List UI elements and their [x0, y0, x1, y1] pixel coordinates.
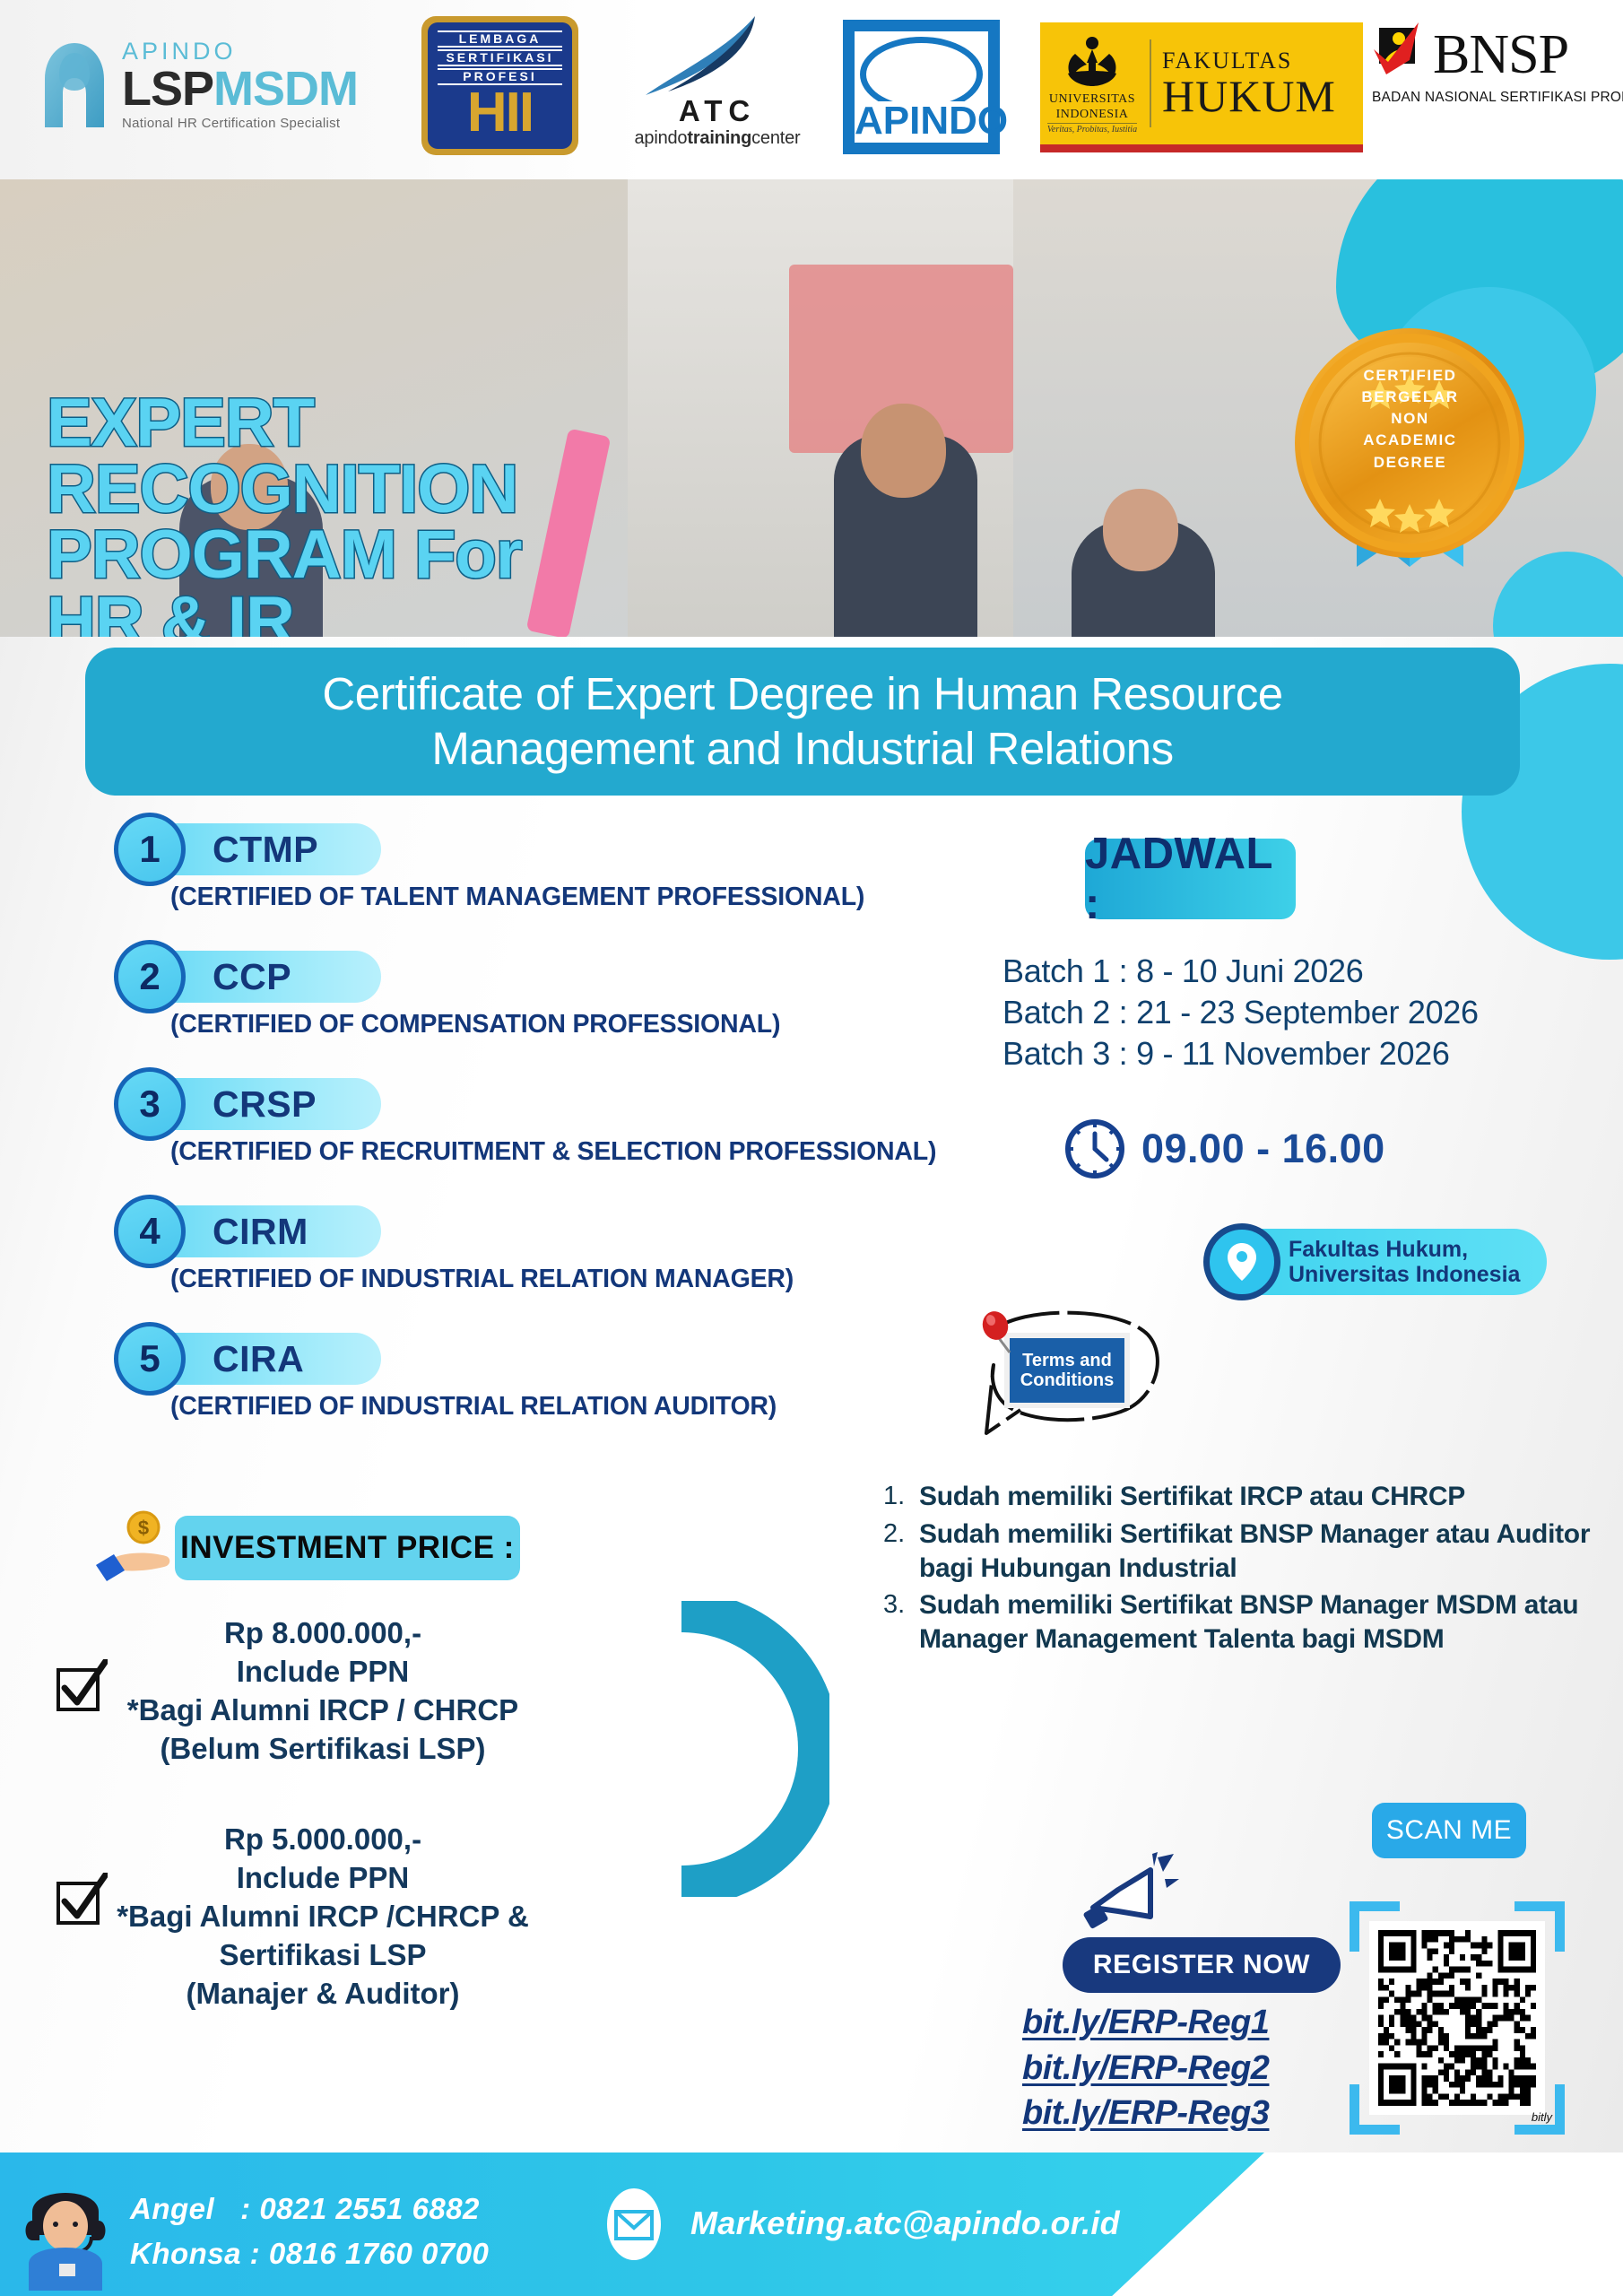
certification-item: CIRA 5 (CERTIFIED OF INDUSTRIAL RELATION…: [76, 1333, 1000, 1448]
footer-contact-1: Angel : 0821 2551 6882: [130, 2187, 489, 2231]
certification-number-badge: 3: [114, 1067, 186, 1141]
registration-link-1[interactable]: bit.ly/ERP-Reg1: [1022, 2000, 1269, 2046]
location-pin-icon: [1203, 1223, 1280, 1300]
certification-full-name: (CERTIFIED OF INDUSTRIAL RELATION MANAGE…: [170, 1265, 794, 1294]
ui-divider: [1150, 39, 1151, 127]
schedule-batch-3: Batch 3 : 9 - 11 November 2026: [1002, 1033, 1479, 1074]
certification-abbr: CTMP: [213, 829, 318, 871]
ui-univ-line2: INDONESIA: [1056, 109, 1129, 122]
terms-badge-line-2: Conditions: [1020, 1370, 1114, 1390]
certification-abbr: CRSP: [213, 1083, 317, 1126]
checkbox-checked-icon: [54, 1659, 108, 1715]
hero-title-line-2: RECOGNITION: [47, 457, 521, 523]
terms-badge-line-1: Terms and: [1022, 1351, 1112, 1370]
logo-lsp-msdm: APINDO LSPMSDM National HR Certification…: [36, 27, 386, 143]
schedule-heading-badge: JADWAL :: [1085, 839, 1296, 919]
subtitle-line-2: Management and Industrial Relations: [431, 722, 1173, 776]
ui-makara-icon: [1057, 32, 1127, 91]
hii-initials: HII: [438, 85, 562, 141]
clock-icon: [1063, 1117, 1127, 1181]
ui-motto: Veritas, Probitas, Iustitia: [1047, 123, 1137, 135]
schedule-batch-1: Batch 1 : 8 - 10 Juni 2026: [1002, 951, 1479, 992]
investment-note-1a: *Bagi Alumni IRCP / CHRCP: [36, 1692, 610, 1730]
msdm-label: MSDM: [213, 62, 358, 116]
hii-line-2: SERTIFIKASI: [438, 49, 562, 66]
schedule-batch-2: Batch 2 : 21 - 23 September 2026: [1002, 992, 1479, 1033]
hero-title-line-4: HR & IR: [47, 588, 521, 637]
terms-list-item: 2. Sudah memiliki Sertifikat BNSP Manage…: [883, 1518, 1619, 1586]
terms-item-text: Sudah memiliki Sertifikat IRCP atau CHRC…: [919, 1480, 1465, 1514]
terms-list-item: 3. Sudah memiliki Sertifikat BNSP Manage…: [883, 1588, 1619, 1657]
seal-line-3: NON: [1287, 408, 1533, 430]
qr-code-frame[interactable]: bitly: [1350, 1901, 1565, 2135]
atc-subtitle: apindotrainingcenter: [619, 128, 816, 149]
seal-line-5: DEGREE: [1287, 452, 1533, 474]
megaphone-icon: [1081, 1852, 1179, 1951]
terms-item-text: Sudah memiliki Sertifikat BNSP Manager a…: [919, 1518, 1619, 1586]
ui-hukum-label: HUKUM: [1162, 74, 1336, 118]
footer-email[interactable]: Marketing.atc@apindo.or.id: [690, 2205, 1120, 2242]
bnsp-subtitle: BADAN NASIONAL SERTIFIKASI PROFESI: [1372, 90, 1614, 106]
certification-abbr: CIRM: [213, 1211, 308, 1253]
terms-item-index: 1.: [883, 1480, 919, 1513]
pushpin-icon: [977, 1309, 1017, 1354]
terms-list-item: 1. Sudah memiliki Sertifikat IRCP atau C…: [883, 1480, 1619, 1514]
email-icon: [596, 2187, 672, 2262]
investment-option-2: Rp 5.000.000,- Include PPN *Bagi Alumni …: [36, 1821, 610, 2013]
certification-abbr: CCP: [213, 956, 291, 998]
certified-seal-badge: CERTIFIED BERGELAR NON ACADEMIC DEGREE: [1287, 323, 1533, 570]
investment-price-heading: INVESTMENT PRICE :: [175, 1516, 520, 1580]
lsp-msdm-mark-icon: [36, 40, 113, 130]
logo-lsp-hii: LEMBAGA SERTIFIKASI PROFESI HII: [421, 16, 578, 155]
certification-item: CCP 2 (CERTIFIED OF COMPENSATION PROFESS…: [76, 951, 1000, 1065]
investment-option-1: Rp 8.000.000,- Include PPN *Bagi Alumni …: [36, 1614, 610, 1769]
atc-sub-b: training: [687, 128, 751, 148]
schedule-time: 09.00 - 16.00: [1141, 1126, 1385, 1172]
seal-line-1: CERTIFIED: [1287, 365, 1533, 387]
lsp-apindo-label: APINDO: [122, 39, 358, 64]
certification-item: CTMP 1 (CERTIFIED OF TALENT MANAGEMENT P…: [76, 823, 1000, 938]
money-hand-icon: $: [94, 1509, 179, 1588]
investment-ppn-1: Include PPN: [36, 1653, 610, 1692]
footer-contact-2: Khonsa : 0816 1760 0700: [130, 2231, 489, 2276]
scan-me-label: SCAN ME: [1372, 1803, 1526, 1858]
schedule-batch-list: Batch 1 : 8 - 10 Juni 2026 Batch 2 : 21 …: [1002, 951, 1479, 1074]
certification-number-badge: 5: [114, 1322, 186, 1396]
ui-fakultas-label: FAKULTAS: [1162, 48, 1336, 74]
investment-note-2c: (Manajer & Auditor): [36, 1975, 610, 2013]
qr-bitly-brand: bitly: [1532, 2110, 1552, 2124]
customer-service-avatar-icon: [16, 2174, 115, 2291]
certification-full-name: (CERTIFIED OF INDUSTRIAL RELATION AUDITO…: [170, 1392, 777, 1422]
subtitle-banner: Certificate of Expert Degree in Human Re…: [85, 648, 1520, 796]
location-line-2: Universitas Indonesia: [1289, 1262, 1520, 1288]
certification-list: CTMP 1 (CERTIFIED OF TALENT MANAGEMENT P…: [76, 823, 1000, 1460]
certification-number-badge: 4: [114, 1195, 186, 1268]
schedule-time-row: 09.00 - 16.00: [1063, 1117, 1385, 1181]
lsp-tagline: National HR Certification Specialist: [122, 116, 358, 131]
checkbox-checked-icon: [54, 1873, 108, 1928]
footer-contacts: Angel : 0821 2551 6882 Khonsa : 0816 176…: [130, 2187, 489, 2275]
certification-number-badge: 2: [114, 940, 186, 1013]
svg-text:$: $: [138, 1517, 149, 1539]
bnsp-word: BNSP: [1433, 27, 1568, 83]
certification-full-name: (CERTIFIED OF COMPENSATION PROFESSIONAL): [170, 1010, 780, 1039]
terms-speech-bubble: Terms and Conditions: [977, 1309, 1170, 1435]
location-text: Fakultas Hukum, Universitas Indonesia: [1289, 1237, 1520, 1288]
atc-sub-c: center: [751, 128, 800, 148]
terms-item-index: 3.: [883, 1588, 919, 1622]
investment-note-2b: Sertifikasi LSP: [36, 1936, 610, 1975]
footer-contact-bar: Angel : 0821 2551 6882 Khonsa : 0816 176…: [0, 2152, 1623, 2296]
certification-abbr: CIRA: [213, 1338, 304, 1380]
certification-item: CRSP 3 (CERTIFIED OF RECRUITMENT & SELEC…: [76, 1078, 1000, 1193]
atc-swoosh-icon: [619, 13, 816, 98]
seal-text: CERTIFIED BERGELAR NON ACADEMIC DEGREE: [1287, 365, 1533, 474]
registration-link-2[interactable]: bit.ly/ERP-Reg2: [1022, 2046, 1269, 2092]
terms-item-text: Sudah memiliki Sertifikat BNSP Manager M…: [919, 1588, 1619, 1657]
atc-sub-a: apindo: [635, 128, 688, 148]
certification-full-name: (CERTIFIED OF TALENT MANAGEMENT PROFESSI…: [170, 883, 864, 912]
seal-line-2: BERGELAR: [1287, 387, 1533, 408]
terms-conditions-list: 1. Sudah memiliki Sertifikat IRCP atau C…: [883, 1480, 1619, 1660]
certification-number-badge: 1: [114, 813, 186, 886]
lsp-label: LSP: [122, 62, 213, 116]
logo-apindo: APINDO: [843, 20, 1000, 154]
ui-univ-line1: UNIVERSITAS: [1049, 93, 1135, 107]
registration-link-3[interactable]: bit.ly/ERP-Reg3: [1022, 2091, 1269, 2136]
terms-badge-card: Terms and Conditions: [1010, 1338, 1124, 1403]
logo-atc: ATC apindotrainingcenter: [619, 13, 816, 161]
header-logo-bar: APINDO LSPMSDM National HR Certification…: [0, 0, 1623, 179]
investment-note-2a: *Bagi Alumni IRCP /CHRCP &: [36, 1898, 610, 1936]
page-title: EXPERT RECOGNITION PROGRAM For HR & IR: [47, 390, 521, 637]
location-line-1: Fakultas Hukum,: [1289, 1237, 1520, 1263]
logo-ui-fakultas-hukum: UNIVERSITAS INDONESIA Veritas, Probitas,…: [1040, 22, 1363, 152]
terms-item-index: 2.: [883, 1518, 919, 1551]
investment-ppn-2: Include PPN: [36, 1859, 610, 1898]
bnsp-mark-icon: [1372, 22, 1428, 87]
hero-title-line-1: EXPERT: [47, 390, 521, 457]
seal-line-4: ACADEMIC: [1287, 430, 1533, 451]
investment-note-1b: (Belum Sertifikasi LSP): [36, 1730, 610, 1769]
investment-price-2: Rp 5.000.000,-: [36, 1821, 610, 1859]
subtitle-line-1: Certificate of Expert Degree in Human Re…: [322, 667, 1282, 721]
qr-code-image[interactable]: [1369, 1921, 1545, 2115]
apindo-word: APINDO: [855, 101, 988, 141]
logo-bnsp: BNSP BADAN NASIONAL SERTIFIKASI PROFESI: [1372, 22, 1614, 135]
hero-title-line-3: PROGRAM For: [47, 522, 521, 588]
atc-title: ATC: [619, 94, 816, 128]
investment-price-1: Rp 8.000.000,-: [36, 1614, 610, 1653]
certification-item: CIRM 4 (CERTIFIED OF INDUSTRIAL RELATION…: [76, 1205, 1000, 1320]
registration-links: bit.ly/ERP-Reg1 bit.ly/ERP-Reg2 bit.ly/E…: [1022, 2000, 1269, 2136]
hii-line-1: LEMBAGA: [438, 30, 562, 48]
certification-full-name: (CERTIFIED OF RECRUITMENT & SELECTION PR…: [170, 1137, 936, 1167]
